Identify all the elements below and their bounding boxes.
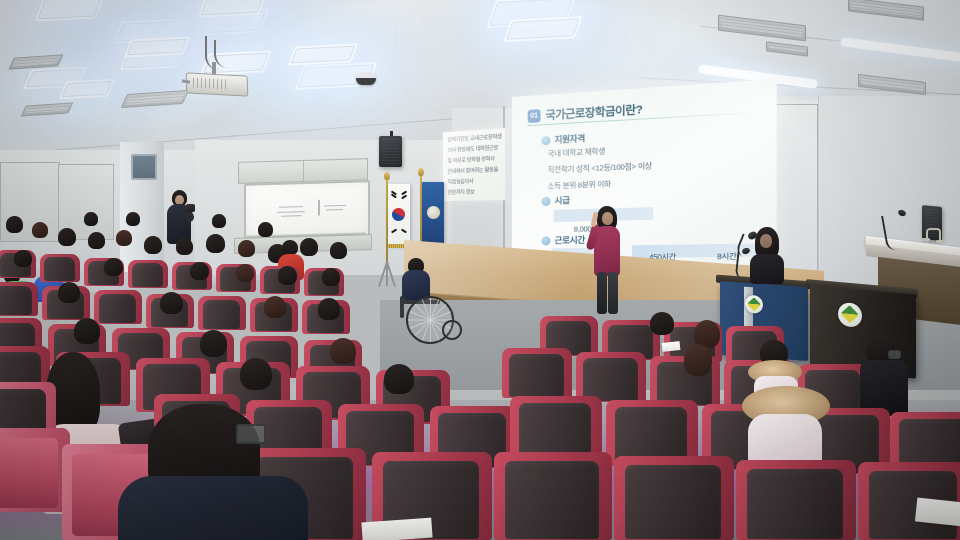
slide-title-row: 01 국가근로장학금이란? [528, 93, 763, 124]
slide-bullet-head: 시급 [555, 194, 570, 207]
flag-stand-leg [386, 262, 388, 286]
side-screen-line: 현장까지 정보 [447, 188, 474, 196]
side-screen-line: 의사 현장에도 대학원근로 [447, 143, 498, 154]
handout-paper [662, 341, 681, 352]
institution-flag [422, 182, 444, 248]
presenter-leg [608, 272, 618, 314]
wheelchair-caster [442, 320, 462, 340]
slide-hours-daily: 8시간 [717, 250, 736, 262]
ceiling-light-panel [59, 79, 116, 99]
wall-mounted-sign [131, 154, 157, 180]
slide-bullet-wage: 시급 [542, 194, 570, 207]
slide-wage-value: 8,000 [574, 224, 592, 234]
side-screen-line: 및 자유로 방학형 장학사 [447, 155, 494, 165]
slide-number-badge: 01 [528, 109, 541, 123]
ceiling-light-panel [288, 43, 359, 65]
flag-finial [418, 168, 424, 176]
slide-subline: 소득 분위 8분위 이하 [548, 178, 611, 192]
presenter-head [602, 212, 613, 225]
university-crest-icon [745, 295, 763, 314]
side-screen-line: 직접실습이사 [447, 177, 473, 186]
korean-national-flag [388, 184, 410, 246]
handheld-camera [186, 204, 195, 212]
bullet-dot-icon [542, 196, 551, 205]
slide-bullet-head: 근로시간 [555, 234, 586, 247]
dome-security-camera [356, 73, 376, 85]
moderator-coat [750, 254, 784, 284]
faucet-knob [936, 240, 944, 243]
faucet-knob [922, 238, 930, 241]
projection-screen-main: 01 국가근로장학금이란? 지원자격 국내 대학교 재학생 직전학기 성적 <1… [512, 79, 777, 267]
side-screen-line: 안내에서 참여하는 활동을 [447, 165, 498, 175]
ceiling-light-panel [35, 0, 105, 22]
slide-bullet-head: 지원자격 [555, 132, 586, 146]
auditorium-photo: 01 국가근로장학금이란? 지원자격 국내 대학교 재학생 직전학기 성적 <1… [0, 0, 960, 540]
university-crest-icon [838, 302, 862, 328]
slide-bullet-hours: 근로시간 [542, 234, 586, 247]
moderator-head [760, 234, 772, 248]
slide-subline: 국내 대학교 재학생 [548, 145, 606, 159]
slide-bullet-eligibility: 지원자격 [542, 132, 586, 146]
bullet-dot-icon [542, 236, 551, 245]
projection-screen-side: 방학기간도 교내근로장학생 의사 현장에도 대학원근로 및 자유로 방학형 장학… [443, 128, 505, 201]
handout-paper [915, 498, 960, 527]
eyeglasses-icon [236, 424, 266, 444]
side-screen-line: 방학기간도 교내근로장학생 [447, 132, 501, 143]
bullet-dot-icon [542, 135, 551, 145]
ceiling-light-panel [503, 16, 582, 42]
ceiling-projector [186, 72, 249, 96]
presenter-leg [597, 272, 607, 314]
slide-subline: 직전학기 성적 <12등/100점> 이상 [548, 160, 652, 176]
handout-paper [361, 518, 432, 540]
wall-seam [818, 96, 819, 276]
flag-finial [384, 172, 390, 180]
wheelchair-frame [400, 296, 404, 318]
ceiling-light-panel [124, 36, 190, 57]
wall-speaker-left [379, 136, 402, 167]
